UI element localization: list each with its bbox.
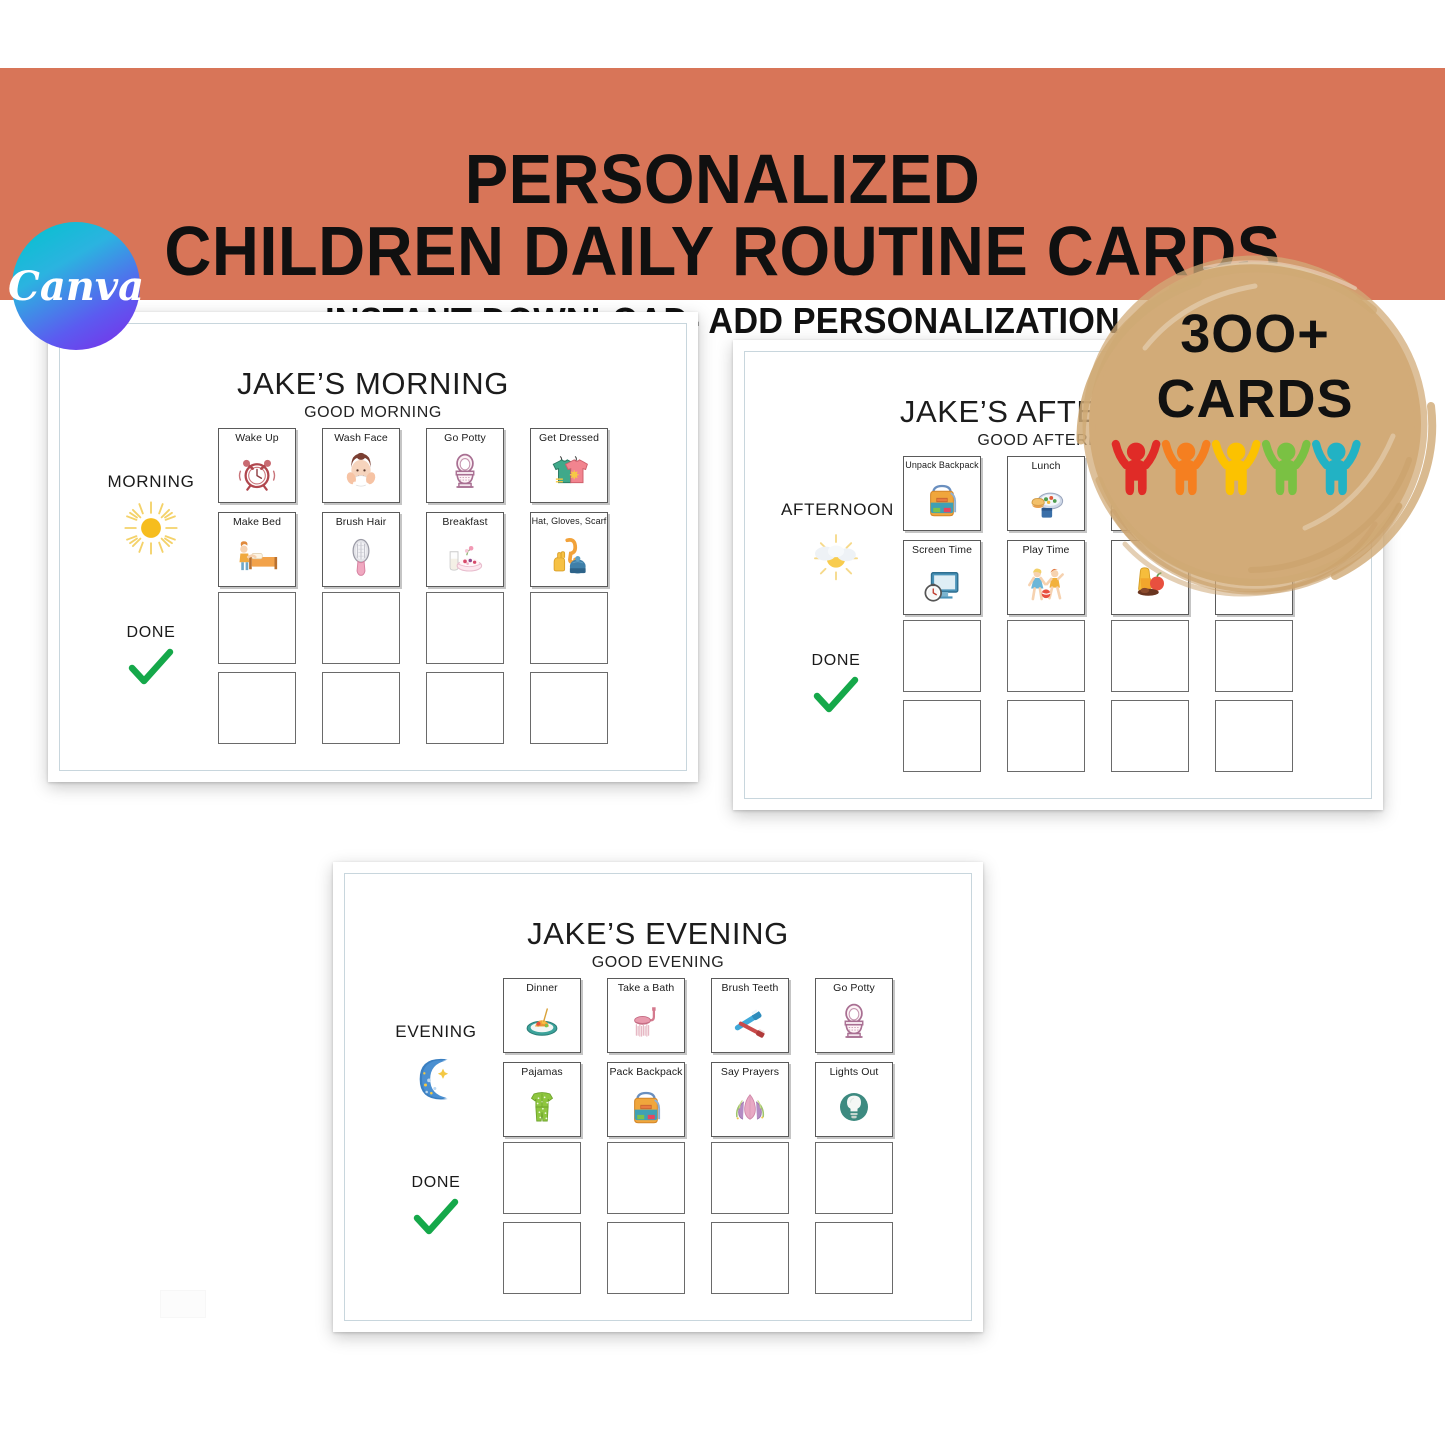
routine-card-label: Say Prayers	[721, 1067, 779, 1078]
backpack-icon	[608, 1078, 684, 1136]
green-check-icon	[812, 676, 860, 716]
done-checkbox-slot[interactable]	[218, 592, 296, 664]
dinner-plate-icon	[504, 994, 580, 1052]
person-figure	[1316, 443, 1356, 495]
done-checkbox-slot[interactable]	[903, 620, 981, 692]
hairbrush-icon	[323, 528, 399, 586]
canva-logo-badge[interactable]: Canva	[12, 222, 140, 350]
people-group-icon	[1111, 426, 1371, 516]
done-checkbox-slot[interactable]	[530, 592, 608, 664]
done-checkbox-slot[interactable]	[426, 592, 504, 664]
routine-card[interactable]: Brush Hair	[322, 512, 400, 587]
done-checkbox-slot[interactable]	[503, 1222, 581, 1294]
wash-face-icon	[323, 444, 399, 502]
done-checkbox-slot[interactable]	[530, 672, 608, 744]
routine-card-label: Pack Backpack	[609, 1067, 682, 1078]
done-label: DONE	[96, 624, 206, 642]
computer-timer-icon	[904, 556, 980, 614]
toilet-icon	[427, 444, 503, 502]
routine-card-label: Go Potty	[444, 433, 486, 444]
sheet-inner-border: JAKE’S EVENINGGOOD EVENINGEVENINGDONEDin…	[344, 873, 972, 1321]
sheet-title: JAKE’S EVENING	[345, 916, 971, 952]
routine-card-label: Make Bed	[233, 517, 281, 528]
green-check-icon	[412, 1198, 460, 1238]
sun-behind-cloud-icon	[808, 528, 864, 584]
time-of-day-label: MORNING	[96, 472, 206, 492]
routine-card[interactable]: Screen Time	[903, 540, 981, 615]
routine-card[interactable]: Lights Out	[815, 1062, 893, 1137]
routine-card-label: Hat, Gloves, Scarf	[532, 517, 607, 526]
sheet-inner-border: JAKE’S MORNINGGOOD MORNINGMORNING DONEWa…	[59, 323, 687, 771]
routine-card[interactable]: Make Bed	[218, 512, 296, 587]
routine-card-label: Screen Time	[912, 545, 972, 556]
sheet-title: JAKE’S MORNING	[60, 366, 686, 402]
routine-card[interactable]: Wake Up	[218, 428, 296, 503]
routine-sheet-morning[interactable]: JAKE’S MORNINGGOOD MORNINGMORNING DONEWa…	[48, 312, 698, 782]
routine-card-label: Go Potty	[833, 983, 875, 994]
routine-card[interactable]: Say Prayers	[711, 1062, 789, 1137]
routine-card[interactable]: Dinner	[503, 978, 581, 1053]
person-figure	[1166, 443, 1206, 495]
routine-card-label: Wash Face	[334, 433, 388, 444]
routine-card-label: Unpack Backpack	[905, 461, 979, 470]
canva-logo-label: Canva	[8, 263, 144, 310]
faint-watermark	[160, 1290, 206, 1318]
winter-wear-icon	[531, 526, 607, 586]
cards-badge-line-2: CARDS	[1055, 368, 1445, 430]
routine-card-label: Take a Bath	[618, 983, 675, 994]
routine-card[interactable]: Wash Face	[322, 428, 400, 503]
alarm-clock-icon	[219, 444, 295, 502]
routine-card[interactable]: Go Potty	[815, 978, 893, 1053]
routine-card[interactable]: Pajamas	[503, 1062, 581, 1137]
cards-count-badge: 3OO+ CARDS	[1055, 228, 1445, 628]
done-checkbox-slot[interactable]	[1111, 700, 1189, 772]
routine-card[interactable]: Hat, Gloves, Scarf	[530, 512, 608, 587]
toilet-icon	[816, 994, 892, 1052]
lightbulb-icon	[816, 1078, 892, 1136]
done-checkbox-slot[interactable]	[903, 700, 981, 772]
toothbrush-icon	[712, 994, 788, 1052]
routine-card-label: Dinner	[526, 983, 558, 994]
green-check-icon	[127, 648, 175, 688]
done-checkbox-slot[interactable]	[322, 592, 400, 664]
breakfast-icon	[427, 528, 503, 586]
routine-card[interactable]: Get Dressed	[530, 428, 608, 503]
clothes-icon	[531, 444, 607, 502]
done-checkbox-slot[interactable]	[1215, 620, 1293, 692]
shower-icon	[608, 994, 684, 1052]
person-figure	[1216, 443, 1256, 495]
header-line-1: PERSONALIZED	[51, 144, 1395, 214]
routine-card[interactable]: Unpack Backpack	[903, 456, 981, 531]
routine-card[interactable]: Take a Bath	[607, 978, 685, 1053]
routine-card[interactable]: Brush Teeth	[711, 978, 789, 1053]
routine-sheet-evening[interactable]: JAKE’S EVENINGGOOD EVENINGEVENINGDONEDin…	[333, 862, 983, 1332]
routine-card[interactable]: Breakfast	[426, 512, 504, 587]
done-checkbox-slot[interactable]	[218, 672, 296, 744]
routine-card[interactable]: Go Potty	[426, 428, 504, 503]
cards-badge-line-1: 3OO+	[1055, 303, 1445, 365]
routine-card-label: Brush Hair	[336, 517, 387, 528]
done-checkbox-slot[interactable]	[322, 672, 400, 744]
done-checkbox-slot[interactable]	[815, 1222, 893, 1294]
backpack-icon	[904, 470, 980, 530]
time-of-day-label: EVENING	[381, 1022, 491, 1042]
done-checkbox-slot[interactable]	[607, 1142, 685, 1214]
done-checkbox-slot[interactable]	[503, 1142, 581, 1214]
praying-hands-icon	[712, 1078, 788, 1136]
done-checkbox-slot[interactable]	[1007, 620, 1085, 692]
make-bed-icon	[219, 528, 295, 586]
done-checkbox-slot[interactable]	[711, 1222, 789, 1294]
sheet-subtitle: GOOD EVENING	[345, 954, 971, 972]
done-checkbox-slot[interactable]	[1215, 700, 1293, 772]
done-checkbox-slot[interactable]	[607, 1222, 685, 1294]
done-checkbox-slot[interactable]	[426, 672, 504, 744]
sheet-subtitle: GOOD MORNING	[60, 404, 686, 422]
pajamas-icon	[504, 1078, 580, 1136]
done-label: DONE	[381, 1174, 491, 1192]
routine-card[interactable]: Pack Backpack	[607, 1062, 685, 1137]
sun-icon	[123, 500, 179, 556]
routine-card-label: Wake Up	[235, 433, 279, 444]
done-checkbox-slot[interactable]	[1007, 700, 1085, 772]
done-checkbox-slot[interactable]	[815, 1142, 893, 1214]
routine-card-label: Breakfast	[442, 517, 487, 528]
person-figure	[1266, 443, 1306, 495]
poster-canvas: PERSONALIZED CHILDREN DAILY ROUTINE CARD…	[0, 0, 1445, 1445]
routine-card-label: Lights Out	[830, 1067, 879, 1078]
routine-card-label: Get Dressed	[539, 433, 599, 444]
done-checkbox-slot[interactable]	[1111, 620, 1189, 692]
routine-card-label: Pajamas	[521, 1067, 563, 1078]
crescent-moon-icon	[408, 1050, 464, 1106]
person-figure	[1116, 443, 1156, 495]
routine-card-label: Brush Teeth	[722, 983, 779, 994]
time-of-day-label: AFTERNOON	[781, 500, 891, 520]
done-checkbox-slot[interactable]	[711, 1142, 789, 1214]
done-label: DONE	[781, 652, 891, 670]
